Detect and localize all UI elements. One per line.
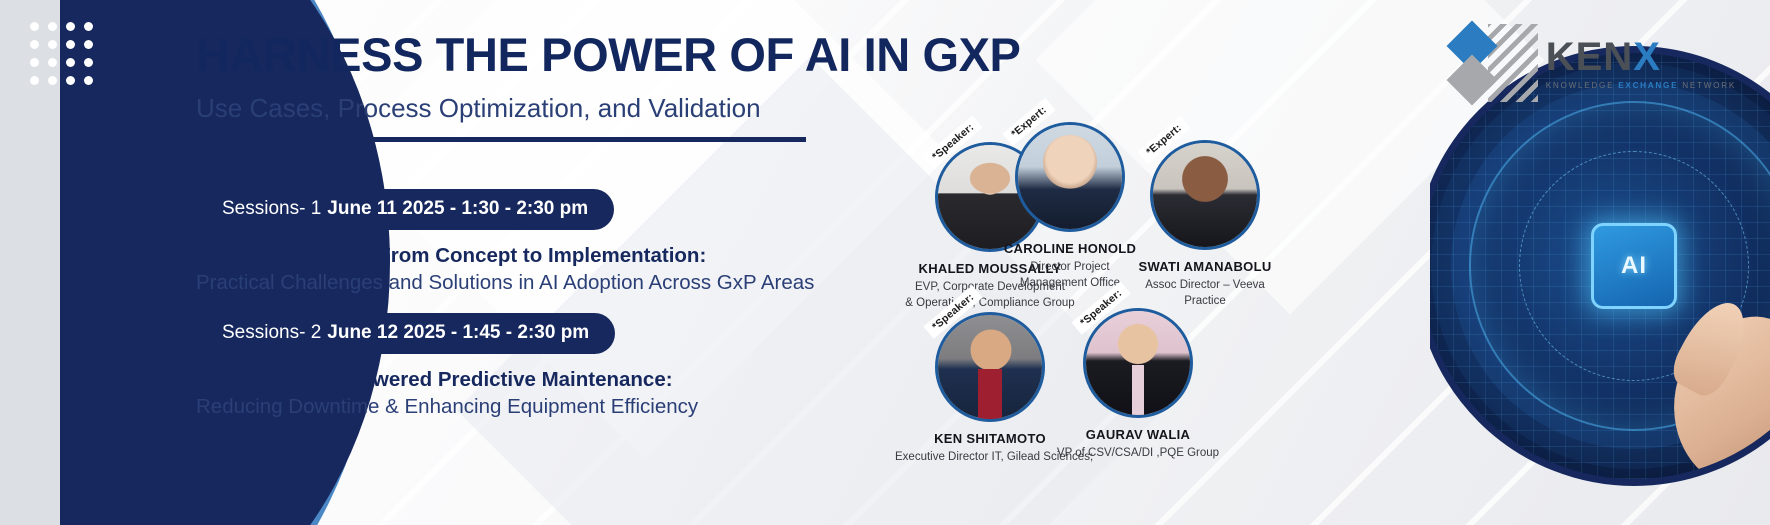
speaker-avatar — [1083, 308, 1193, 418]
speaker-card-swati-amanabolu[interactable]: *Expert: SWATI AMANABOLU Assoc Director … — [1110, 140, 1300, 309]
speaker-photo-wrap: *Speaker: — [1083, 308, 1193, 418]
speaker-card-gaurav-walia[interactable]: *Speaker: GAURAV WALIA VP of CSV/CSA/DI … — [1043, 308, 1233, 462]
kenx-logo[interactable]: KENX KNOWLEDGE EXCHANGE NETWORK — [1448, 24, 1736, 102]
logo-stripes-icon — [1488, 24, 1538, 102]
speaker-role-line-2: Practice — [1110, 294, 1300, 310]
kenx-wordmark-ken: KEN — [1546, 37, 1633, 77]
speaker-name: GAURAV WALIA — [1043, 427, 1233, 442]
speaker-role: VP of CSV/CSA/DI ,PQE Group — [1043, 446, 1233, 462]
speaker-avatar — [1150, 140, 1260, 250]
kenx-tagline-post: NETWORK — [1678, 81, 1736, 90]
kenx-tagline: KNOWLEDGE EXCHANGE NETWORK — [1546, 81, 1736, 90]
kenx-logo-text: KENX KNOWLEDGE EXCHANGE NETWORK — [1546, 37, 1736, 90]
speaker-role-line-1: Assoc Director – Veeva — [1110, 278, 1300, 294]
kenx-tagline-accent: EXCHANGE — [1618, 81, 1678, 90]
speaker-photo-wrap: *Expert: — [1015, 122, 1125, 232]
promo-banner: AI KENX KNOWLEDGE EXCHANGE NETWORK HARNE… — [0, 0, 1770, 525]
speaker-role-line-1: VP of CSV/CSA/DI ,PQE Group — [1043, 446, 1233, 462]
speaker-name: SWATI AMANABOLU — [1110, 259, 1300, 274]
kenx-wordmark-x: X — [1633, 37, 1661, 77]
speaker-photo-wrap: *Expert: — [1150, 140, 1260, 250]
kenx-logo-mark-icon — [1448, 24, 1534, 102]
kenx-wordmark: KENX — [1546, 37, 1736, 77]
speaker-avatar — [935, 312, 1045, 422]
speaker-photo-wrap: *Speaker: — [935, 312, 1045, 422]
speaker-role: Assoc Director – Veeva Practice — [1110, 278, 1300, 309]
speaker-avatar — [1015, 122, 1125, 232]
kenx-tagline-pre: KNOWLEDGE — [1546, 81, 1619, 90]
